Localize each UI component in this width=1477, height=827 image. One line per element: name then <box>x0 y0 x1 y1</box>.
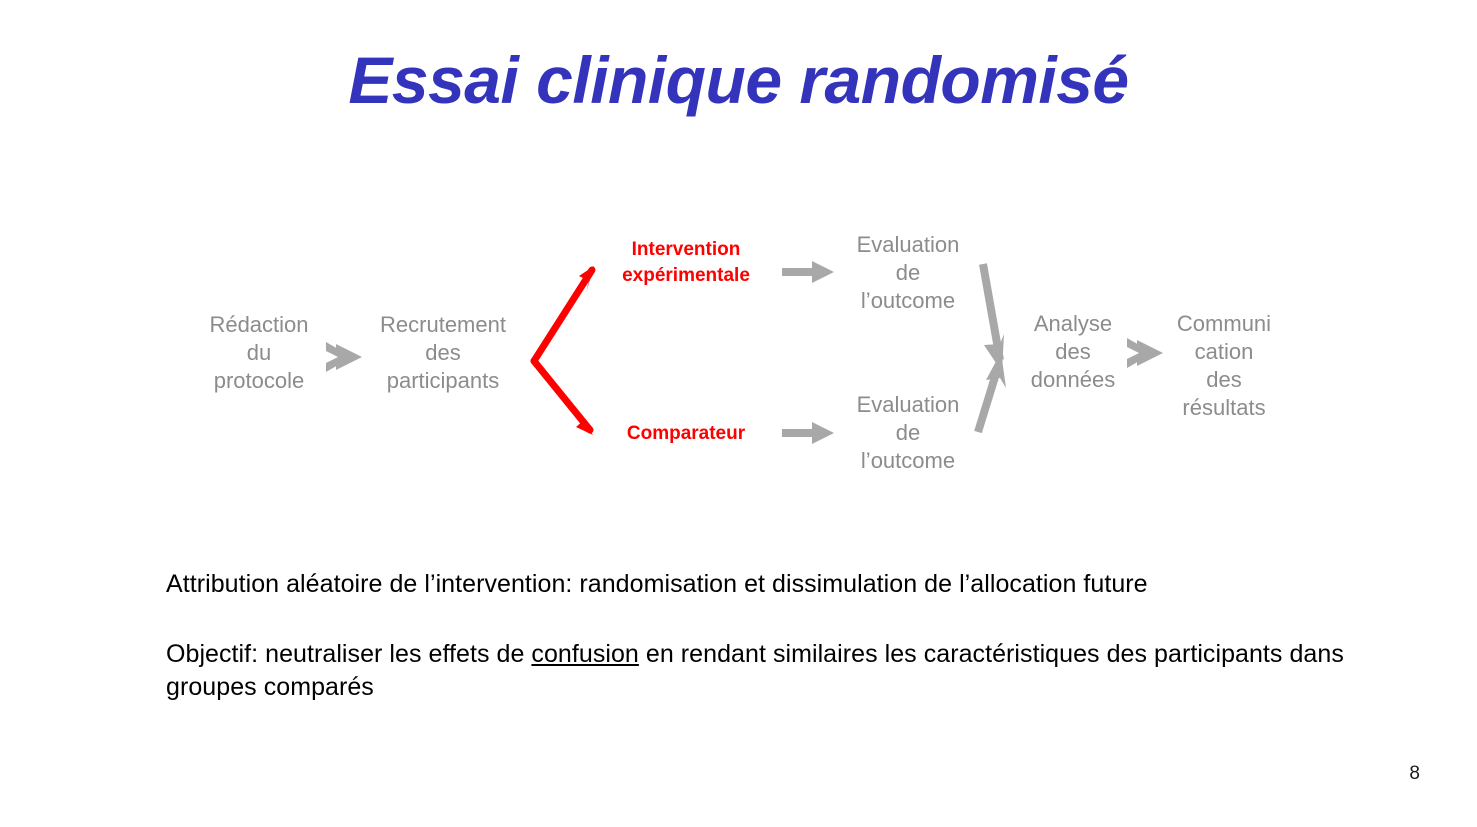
arrow-evaluation-top-to-analyse-icon <box>983 264 1004 372</box>
page-number: 8 <box>1409 763 1420 785</box>
diagram-node-comparateur: Comparateur <box>592 421 780 447</box>
arrow-randomisation-up-icon <box>534 266 594 361</box>
slide-canvas: Essai clinique randomisé <box>0 0 1477 827</box>
diagram-node-analyse-des-donnees: Analyse des données <box>1000 310 1146 394</box>
diagram-node-communication-des-resultats: Communi cation des résultats <box>1152 310 1296 423</box>
arrow-evaluation-bottom-to-analyse-icon <box>978 352 1006 432</box>
objectif-text-before: Objectif: neutraliser les effets de <box>166 640 531 668</box>
arrow-analyse-to-communication-icon <box>1127 338 1163 368</box>
objectif-term-confusion: confusion <box>531 640 638 668</box>
page-title: Essai clinique randomisé <box>0 46 1477 115</box>
body-paragraph-objectif: Objectif: neutraliser les effets de conf… <box>166 638 1346 703</box>
diagram-node-intervention-experimentale: Intervention expérimentale <box>592 237 780 288</box>
diagram-node-recrutement: Recrutement des participants <box>364 311 522 395</box>
arrow-randomisation-down-icon <box>534 361 593 435</box>
arrow-protocole-to-recrutement-icon <box>326 342 362 372</box>
body-paragraph-attribution: Attribution aléatoire de l’intervention:… <box>166 568 1366 601</box>
diagram-node-evaluation-outcome-bottom: Evaluation de l’outcome <box>830 391 986 475</box>
arrow-intervention-to-evaluation-icon <box>782 261 834 283</box>
diagram-node-protocole: Rédaction du protocole <box>180 311 338 395</box>
arrow-comparateur-to-evaluation-icon <box>782 422 834 444</box>
diagram-node-evaluation-outcome-top: Evaluation de l’outcome <box>830 231 986 315</box>
